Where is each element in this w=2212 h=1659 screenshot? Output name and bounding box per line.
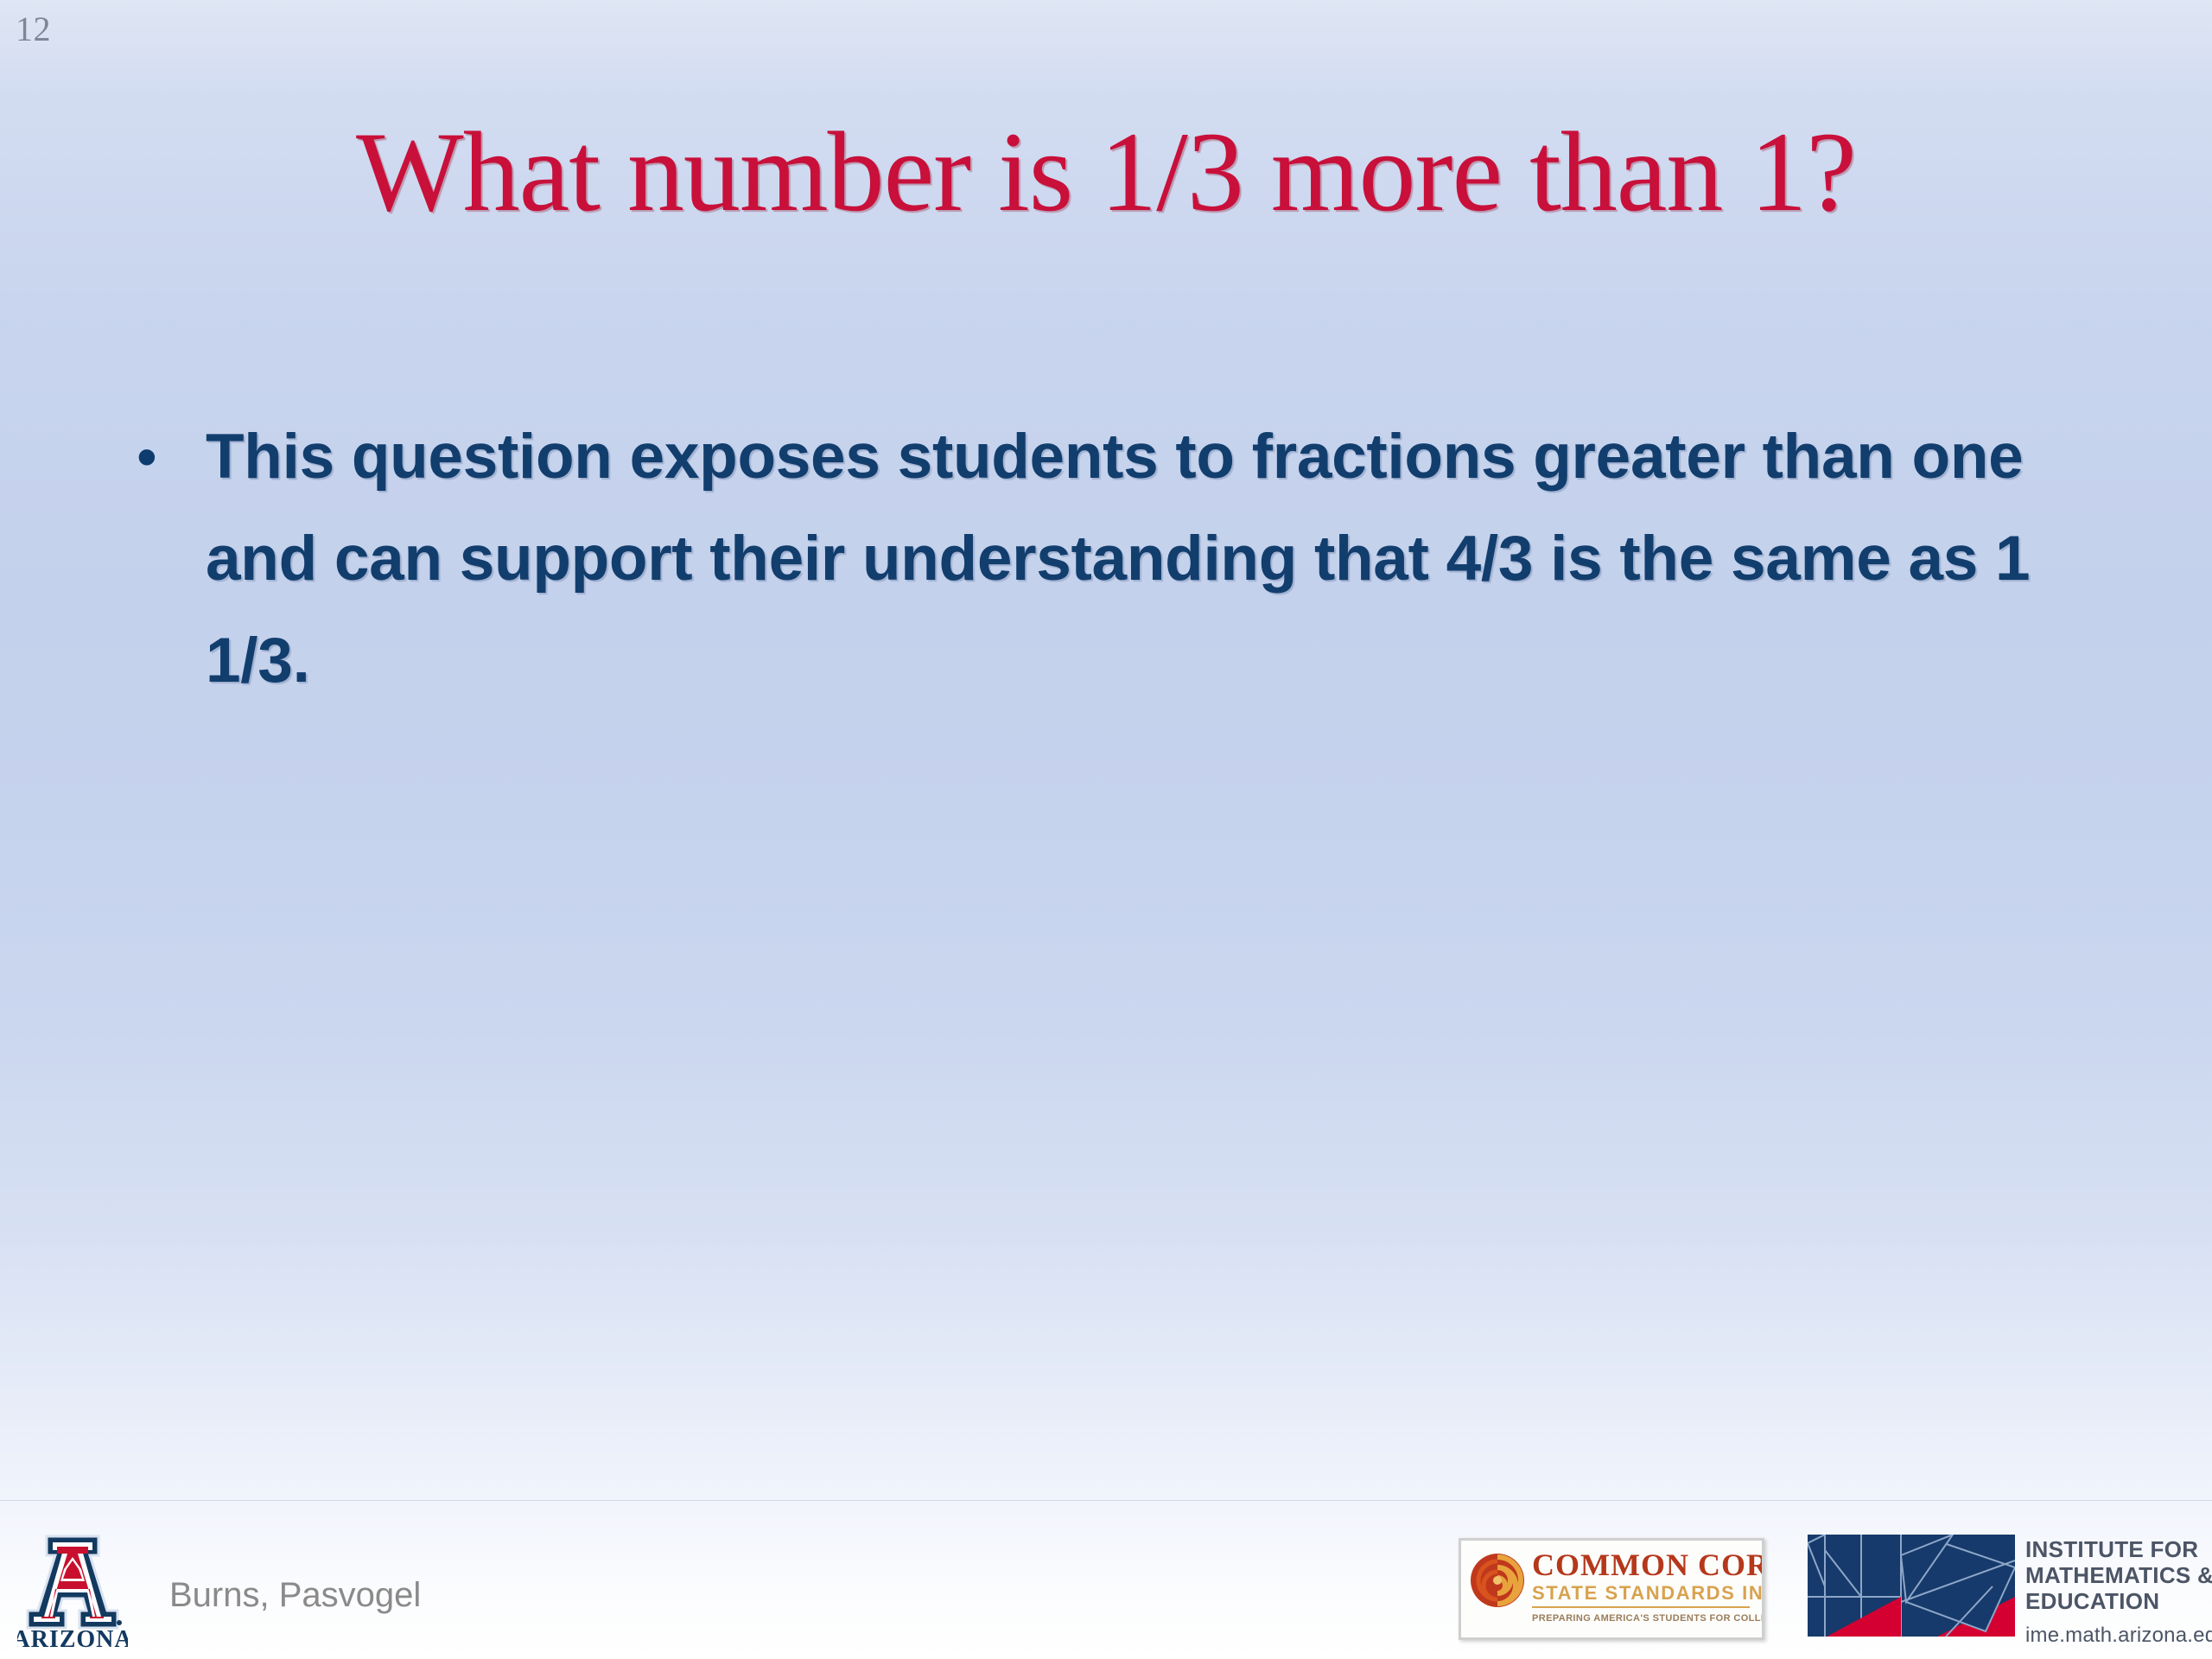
- common-core-subtitle: STATE STANDARDS INITIATIVE: [1532, 1582, 1750, 1608]
- arizona-block-a-icon: ARIZONA: [17, 1531, 128, 1652]
- institute-for-mathematics-education-logo: INSTITUTE FOR MATHEMATICS & EDUCATION im…: [1808, 1535, 2198, 1642]
- common-core-tagline: PREPARING AMERICA'S STUDENTS FOR COLLEGE…: [1532, 1611, 1757, 1626]
- bullet-marker-icon: •: [121, 406, 206, 508]
- svg-text:ARIZONA: ARIZONA: [17, 1626, 128, 1652]
- ime-name-line-3: EDUCATION: [2025, 1588, 2212, 1614]
- slide-number: 12: [16, 12, 51, 47]
- ime-url: ime.math.arizona.edu: [2025, 1623, 2212, 1649]
- slide-body: • This question exposes students to frac…: [121, 406, 2126, 712]
- common-core-wordmark: COMMON CORE STATE STANDARDS INITIATIVE P…: [1532, 1548, 1757, 1626]
- bullet-text: This question exposes students to fracti…: [206, 406, 2098, 712]
- common-core-logo: COMMON CORE STATE STANDARDS INITIATIVE P…: [1459, 1538, 1764, 1640]
- common-core-swirl-icon: [1468, 1551, 1527, 1610]
- slide-title: What number is 1/3 more than 1?: [0, 111, 2212, 234]
- footer-credit-text: Burns, Pasvogel: [169, 1576, 421, 1615]
- ime-geometric-mark-icon: [1808, 1535, 2015, 1637]
- ime-wordmark: INSTITUTE FOR MATHEMATICS & EDUCATION im…: [2025, 1536, 2212, 1649]
- footer-divider: [0, 1500, 2212, 1501]
- slide-footer: ARIZONA Burns, Pasvogel COMMON CORE STAT…: [0, 1503, 2212, 1659]
- bullet-list-item: • This question exposes students to frac…: [121, 406, 2126, 712]
- common-core-title: COMMON CORE: [1532, 1548, 1757, 1582]
- ime-name-line-1: INSTITUTE FOR: [2025, 1536, 2212, 1562]
- university-of-arizona-logo: ARIZONA: [17, 1531, 128, 1652]
- presentation-slide: 12 What number is 1/3 more than 1? • Thi…: [0, 0, 2212, 1659]
- ime-name-line-2: MATHEMATICS &: [2025, 1562, 2212, 1588]
